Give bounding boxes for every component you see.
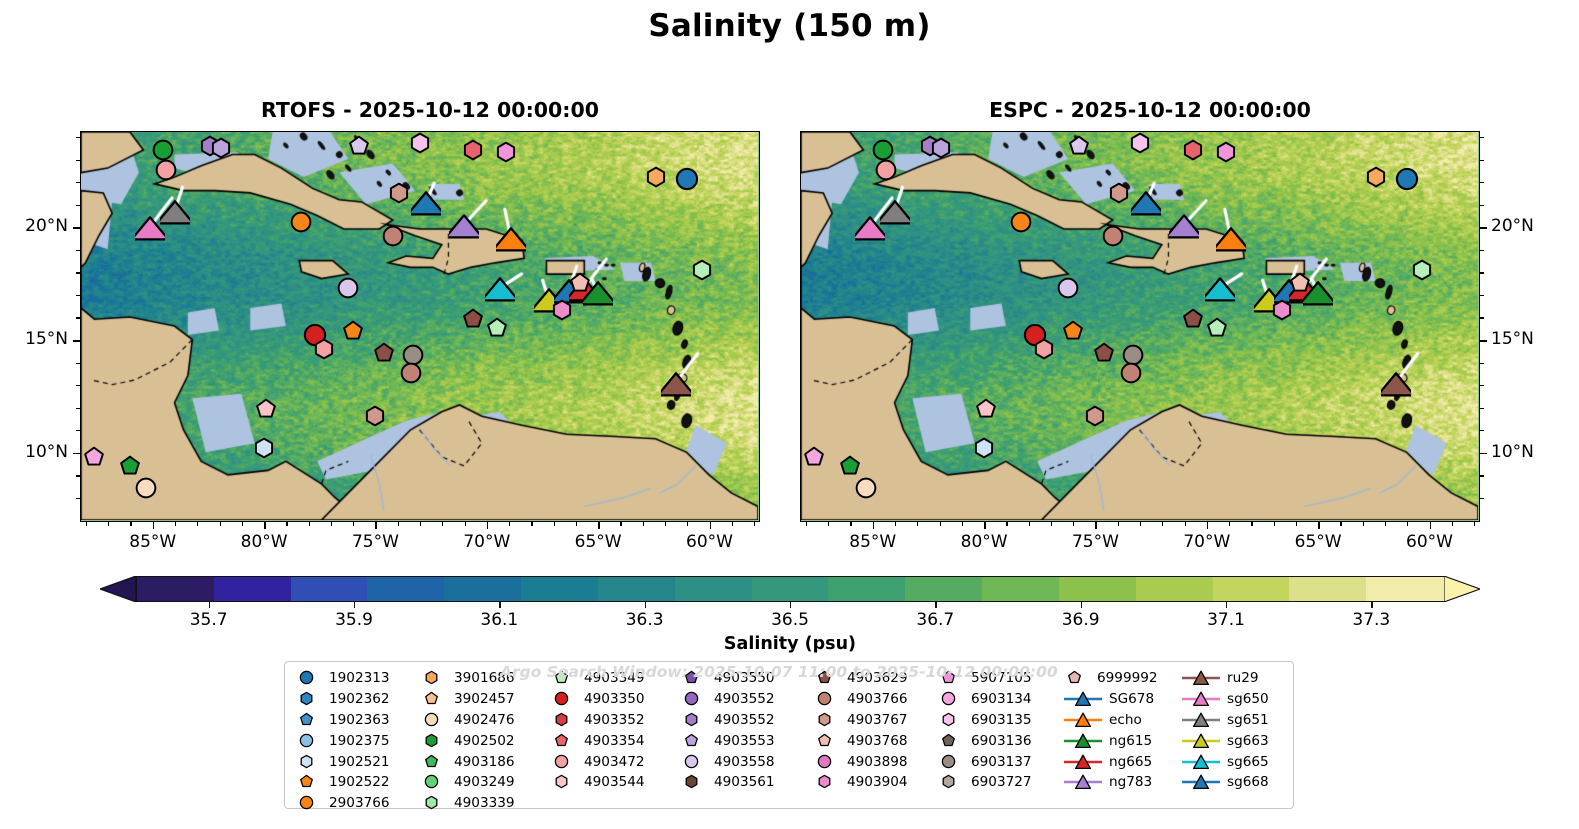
legend-item[interactable]: 1902375 bbox=[295, 730, 390, 751]
legend-label: sg663 bbox=[1227, 733, 1269, 749]
colorbar-tick bbox=[1226, 602, 1227, 608]
x-tick bbox=[984, 522, 986, 529]
float-marker-icon bbox=[813, 690, 835, 708]
float-marker-icon bbox=[295, 753, 317, 771]
x-tick bbox=[1318, 522, 1320, 529]
glider-marker-icon bbox=[1063, 732, 1103, 750]
legend-item[interactable]: 4903186 bbox=[420, 751, 515, 772]
colorbar-gradient bbox=[136, 576, 1444, 602]
argo-search-window-watermark: Argo Search Window: 2025-10-07 11:00 to … bbox=[500, 663, 1058, 681]
map-marker[interactable] bbox=[1216, 225, 1246, 255]
map-marker[interactable] bbox=[386, 180, 412, 206]
legend-item[interactable]: sg650 bbox=[1181, 689, 1269, 710]
colorbar-segment bbox=[1366, 577, 1443, 601]
colorbar-segment bbox=[1059, 577, 1136, 601]
legend-item[interactable]: 1902362 bbox=[295, 689, 390, 710]
map-marker[interactable] bbox=[1118, 360, 1144, 386]
y-minor-tick bbox=[1480, 137, 1484, 138]
map-marker[interactable] bbox=[673, 165, 701, 193]
legend-item[interactable]: 4903553 bbox=[680, 730, 775, 751]
float-marker-icon bbox=[680, 711, 702, 729]
observation-markers bbox=[81, 132, 758, 520]
legend-label: 1902522 bbox=[329, 774, 390, 790]
float-marker-icon bbox=[295, 732, 317, 750]
legend-label: 4903544 bbox=[584, 774, 645, 790]
x-minor-tick bbox=[754, 522, 755, 526]
map-marker[interactable] bbox=[1100, 223, 1126, 249]
legend-item[interactable]: echo bbox=[1063, 710, 1142, 731]
colorbar-segment bbox=[367, 577, 444, 601]
legend-item[interactable]: 3902457 bbox=[420, 689, 515, 710]
legend-item[interactable]: 4903472 bbox=[550, 751, 645, 772]
map-marker[interactable] bbox=[153, 157, 179, 183]
y-minor-tick bbox=[76, 430, 80, 431]
legend-label: 4903767 bbox=[847, 712, 908, 728]
legend-item[interactable]: 4903339 bbox=[420, 793, 515, 814]
y-tick bbox=[1480, 227, 1487, 229]
colorbar-tick-label: 35.7 bbox=[164, 610, 254, 630]
float-marker-icon bbox=[937, 690, 959, 708]
x-minor-tick bbox=[917, 522, 918, 526]
colorbar-segment bbox=[1213, 577, 1290, 601]
legend-item[interactable]: ng615 bbox=[1063, 730, 1152, 751]
x-tick bbox=[598, 522, 600, 529]
map-marker[interactable] bbox=[1031, 336, 1057, 362]
map-marker[interactable] bbox=[1082, 403, 1108, 429]
legend-label: 1902375 bbox=[329, 733, 390, 749]
y-minor-tick bbox=[76, 498, 80, 499]
map-marker[interactable] bbox=[398, 360, 424, 386]
legend-item[interactable]: 1902363 bbox=[295, 710, 390, 731]
legend-item[interactable]: 4903544 bbox=[550, 772, 645, 793]
x-minor-tick bbox=[828, 522, 829, 526]
map-marker[interactable] bbox=[1180, 306, 1206, 332]
colorbar-tick-label: 36.9 bbox=[1036, 610, 1126, 630]
legend-item[interactable]: 1902521 bbox=[295, 751, 390, 772]
colorbar-segment bbox=[214, 577, 291, 601]
legend-label: ru29 bbox=[1227, 670, 1259, 686]
x-minor-tick bbox=[1029, 522, 1030, 526]
float-marker-icon bbox=[937, 711, 959, 729]
glider-marker-icon bbox=[1181, 711, 1221, 729]
legend-item[interactable]: 2903766 bbox=[295, 793, 390, 814]
map-panel-rtofs[interactable] bbox=[80, 131, 760, 522]
legend-item[interactable]: SG678 bbox=[1063, 689, 1154, 710]
y-minor-tick bbox=[1480, 160, 1484, 161]
legend-label: 4903553 bbox=[714, 733, 775, 749]
y-minor-tick bbox=[76, 295, 80, 296]
panel-title-rtofs: RTOFS - 2025-10-12 00:00:00 bbox=[80, 98, 780, 122]
x-minor-tick bbox=[1229, 522, 1230, 526]
map-marker[interactable] bbox=[251, 435, 277, 461]
legend-item[interactable]: 4903558 bbox=[680, 751, 775, 772]
map-marker[interactable] bbox=[496, 225, 526, 255]
legend-label: 4902502 bbox=[454, 733, 515, 749]
map-marker[interactable] bbox=[1393, 165, 1421, 193]
legend-label: sg665 bbox=[1227, 754, 1269, 770]
float-marker-icon bbox=[295, 773, 317, 791]
map-marker[interactable] bbox=[460, 137, 486, 163]
float-marker-icon bbox=[420, 690, 442, 708]
map-marker[interactable] bbox=[335, 275, 361, 301]
map-marker[interactable] bbox=[485, 275, 515, 305]
legend-item[interactable]: 4902476 bbox=[420, 710, 515, 731]
colorbar-tick-label: 37.3 bbox=[1326, 610, 1416, 630]
map-marker[interactable] bbox=[1205, 275, 1235, 305]
legend-label: 4903558 bbox=[714, 754, 775, 770]
legend-item[interactable]: 6903135 bbox=[937, 710, 1032, 731]
float-marker-icon bbox=[295, 690, 317, 708]
y-minor-tick bbox=[76, 250, 80, 251]
map-marker[interactable] bbox=[1008, 209, 1034, 235]
legend-item[interactable]: 4903904 bbox=[813, 772, 908, 793]
legend-item[interactable]: 6903136 bbox=[937, 730, 1032, 751]
legend-item[interactable]: 4903350 bbox=[550, 689, 645, 710]
map-marker[interactable] bbox=[1169, 212, 1199, 242]
legend-label: 4903339 bbox=[454, 795, 515, 811]
y-minor-tick bbox=[1480, 385, 1484, 386]
map-marker[interactable] bbox=[81, 444, 107, 470]
float-marker-icon bbox=[937, 773, 959, 791]
legend-label: sg650 bbox=[1227, 691, 1269, 707]
float-marker-icon bbox=[937, 753, 959, 771]
y-tick bbox=[1480, 453, 1487, 455]
glider-marker-icon bbox=[1181, 690, 1221, 708]
x-minor-tick bbox=[220, 522, 221, 526]
x-minor-tick bbox=[175, 522, 176, 526]
legend-item[interactable]: 4903561 bbox=[680, 772, 775, 793]
x-minor-tick bbox=[1162, 522, 1163, 526]
figure-title: Salinity (150 m) bbox=[0, 8, 1579, 44]
legend-item[interactable]: 6903137 bbox=[937, 751, 1032, 772]
legend-label: 4903472 bbox=[584, 754, 645, 770]
map-marker[interactable] bbox=[1131, 189, 1161, 219]
x-tick-label: 85°W bbox=[833, 532, 913, 552]
x-minor-tick bbox=[309, 522, 310, 526]
legend-label: 4903354 bbox=[584, 733, 645, 749]
x-tick bbox=[1207, 522, 1209, 529]
x-minor-tick bbox=[130, 522, 131, 526]
colorbar-tick bbox=[935, 602, 936, 608]
legend[interactable]: 1902313190236219023631902375190252119025… bbox=[284, 661, 1294, 809]
map-marker[interactable] bbox=[1127, 131, 1153, 156]
float-marker-icon bbox=[550, 711, 572, 729]
legend-item[interactable]: 4903552 bbox=[680, 710, 775, 731]
map-marker[interactable] bbox=[493, 139, 519, 165]
x-minor-tick bbox=[1006, 522, 1007, 526]
y-tick-label: 10°N bbox=[0, 442, 68, 462]
map-marker[interactable] bbox=[853, 475, 879, 501]
x-minor-tick bbox=[1118, 522, 1119, 526]
float-marker-icon bbox=[420, 669, 442, 687]
legend-label: 4903186 bbox=[454, 754, 515, 770]
map-marker[interactable] bbox=[1204, 315, 1230, 341]
x-minor-tick bbox=[509, 522, 510, 526]
x-tick bbox=[264, 522, 266, 529]
x-minor-tick bbox=[962, 522, 963, 526]
x-tick-label: 70°W bbox=[1167, 532, 1247, 552]
map-marker[interactable] bbox=[340, 318, 366, 344]
map-marker[interactable] bbox=[411, 189, 441, 219]
x-minor-tick bbox=[331, 522, 332, 526]
x-tick-label: 75°W bbox=[1055, 532, 1135, 552]
y-minor-tick bbox=[76, 205, 80, 206]
legend-label: sg668 bbox=[1227, 774, 1269, 790]
colorbar-tick bbox=[1081, 602, 1082, 608]
y-tick-label: 10°N bbox=[1491, 442, 1577, 462]
x-minor-tick bbox=[687, 522, 688, 526]
map-marker[interactable] bbox=[1381, 370, 1411, 400]
x-minor-tick bbox=[1340, 522, 1341, 526]
y-tick-label: 15°N bbox=[1491, 329, 1577, 349]
x-minor-tick bbox=[1452, 522, 1453, 526]
map-marker[interactable] bbox=[1091, 340, 1117, 366]
x-tick-label: 60°W bbox=[670, 532, 750, 552]
colorbar-segment bbox=[828, 577, 905, 601]
legend-label: 4903766 bbox=[847, 691, 908, 707]
map-marker[interactable] bbox=[1269, 297, 1295, 323]
float-marker-icon bbox=[550, 690, 572, 708]
y-minor-tick bbox=[1480, 295, 1484, 296]
x-minor-tick bbox=[620, 522, 621, 526]
legend-item[interactable]: 4903352 bbox=[550, 710, 645, 731]
legend-label: 6903136 bbox=[971, 733, 1032, 749]
colorbar-segment bbox=[675, 577, 752, 601]
legend-item[interactable]: 4903766 bbox=[813, 689, 908, 710]
glider-marker-icon bbox=[1181, 753, 1221, 771]
colorbar-segment bbox=[444, 577, 521, 601]
map-marker[interactable] bbox=[549, 297, 575, 323]
x-minor-tick bbox=[86, 522, 87, 526]
colorbar-segment bbox=[905, 577, 982, 601]
legend-label: 6903137 bbox=[971, 754, 1032, 770]
map-marker[interactable] bbox=[346, 133, 372, 159]
x-minor-tick bbox=[665, 522, 666, 526]
map-marker[interactable] bbox=[208, 135, 234, 161]
legend-label: 1902521 bbox=[329, 754, 390, 770]
map-marker[interactable] bbox=[1409, 257, 1435, 283]
float-marker-icon bbox=[420, 753, 442, 771]
float-marker-icon bbox=[680, 773, 702, 791]
colorbar-segment bbox=[1136, 577, 1213, 601]
map-marker[interactable] bbox=[484, 315, 510, 341]
map-marker[interactable] bbox=[311, 336, 337, 362]
map-marker[interactable] bbox=[135, 214, 165, 244]
legend-item[interactable]: 4902502 bbox=[420, 730, 515, 751]
colorbar-title: Salinity (psu) bbox=[100, 634, 1480, 654]
legend-label: 4903898 bbox=[847, 754, 908, 770]
legend-item[interactable]: 4903249 bbox=[420, 772, 515, 793]
map-marker[interactable] bbox=[133, 475, 159, 501]
float-marker-icon bbox=[420, 794, 442, 812]
map-marker[interactable] bbox=[689, 257, 715, 283]
y-minor-tick bbox=[1480, 430, 1484, 431]
x-minor-tick bbox=[850, 522, 851, 526]
x-tick-label: 60°W bbox=[1390, 532, 1470, 552]
map-marker[interactable] bbox=[1066, 133, 1092, 159]
colorbar-tick-label: 36.7 bbox=[890, 610, 980, 630]
colorbar-tick bbox=[354, 602, 355, 608]
colorbar-tick-label: 36.1 bbox=[454, 610, 544, 630]
legend-item[interactable]: 6999992 bbox=[1063, 668, 1158, 689]
x-tick-label: 75°W bbox=[335, 532, 415, 552]
colorbar-tick bbox=[499, 602, 500, 608]
map-marker[interactable] bbox=[855, 214, 885, 244]
panel-title-espc: ESPC - 2025-10-12 00:00:00 bbox=[800, 98, 1500, 122]
legend-item[interactable]: 4903768 bbox=[813, 730, 908, 751]
map-marker[interactable] bbox=[449, 212, 479, 242]
legend-label: 4903768 bbox=[847, 733, 908, 749]
legend-label: 4903249 bbox=[454, 774, 515, 790]
legend-item[interactable]: ng783 bbox=[1063, 772, 1152, 793]
x-minor-tick bbox=[940, 522, 941, 526]
float-marker-icon bbox=[295, 669, 317, 687]
float-marker-icon bbox=[295, 794, 317, 812]
legend-item[interactable]: 1902313 bbox=[295, 668, 390, 689]
legend-label: echo bbox=[1109, 712, 1142, 728]
x-minor-tick bbox=[806, 522, 807, 526]
colorbar-segment bbox=[1289, 577, 1366, 601]
map-marker[interactable] bbox=[643, 164, 669, 190]
float-marker-icon bbox=[550, 773, 572, 791]
legend-item[interactable]: ru29 bbox=[1181, 668, 1259, 689]
x-tick bbox=[153, 522, 155, 529]
x-minor-tick bbox=[576, 522, 577, 526]
y-minor-tick bbox=[1480, 205, 1484, 206]
y-tick-label: 15°N bbox=[0, 329, 68, 349]
y-minor-tick bbox=[76, 475, 80, 476]
map-panel-espc[interactable] bbox=[800, 131, 1480, 522]
x-minor-tick bbox=[643, 522, 644, 526]
legend-label: ng783 bbox=[1109, 774, 1152, 790]
x-minor-tick bbox=[1474, 522, 1475, 526]
float-marker-icon bbox=[420, 732, 442, 750]
legend-label: ng615 bbox=[1109, 733, 1152, 749]
y-minor-tick bbox=[76, 137, 80, 138]
legend-label: sg651 bbox=[1227, 712, 1269, 728]
legend-item[interactable]: sg668 bbox=[1181, 772, 1269, 793]
legend-item[interactable]: sg663 bbox=[1181, 730, 1269, 751]
x-minor-tick bbox=[1274, 522, 1275, 526]
legend-label: ng665 bbox=[1109, 754, 1152, 770]
map-marker[interactable] bbox=[928, 135, 954, 161]
map-marker[interactable] bbox=[460, 306, 486, 332]
colorbar-segment bbox=[598, 577, 675, 601]
legend-label: 4902476 bbox=[454, 712, 515, 728]
map-marker[interactable] bbox=[1060, 318, 1086, 344]
x-tick-label: 65°W bbox=[1278, 532, 1358, 552]
legend-item[interactable]: 4903767 bbox=[813, 710, 908, 731]
map-marker[interactable] bbox=[873, 157, 899, 183]
glider-marker-icon bbox=[1181, 669, 1221, 687]
x-tick bbox=[487, 522, 489, 529]
y-minor-tick bbox=[76, 408, 80, 409]
float-marker-icon bbox=[680, 690, 702, 708]
x-minor-tick bbox=[1363, 522, 1364, 526]
colorbar-under-cap bbox=[100, 576, 136, 602]
map-marker[interactable] bbox=[801, 444, 827, 470]
legend-label: 6903727 bbox=[971, 774, 1032, 790]
colorbar-tick bbox=[1371, 602, 1372, 608]
x-tick bbox=[1095, 522, 1097, 529]
colorbar-tick-label: 36.5 bbox=[745, 610, 835, 630]
legend-label: 6999992 bbox=[1097, 670, 1158, 686]
colorbar-segment bbox=[752, 577, 829, 601]
map-marker[interactable] bbox=[371, 340, 397, 366]
x-minor-tick bbox=[895, 522, 896, 526]
legend-label: 1902363 bbox=[329, 712, 390, 728]
x-minor-tick bbox=[286, 522, 287, 526]
y-tick bbox=[73, 453, 80, 455]
legend-item[interactable]: 6903134 bbox=[937, 689, 1032, 710]
map-marker[interactable] bbox=[1180, 137, 1206, 163]
map-marker[interactable] bbox=[1363, 164, 1389, 190]
legend-label: 6903135 bbox=[971, 712, 1032, 728]
legend-item[interactable]: ng665 bbox=[1063, 751, 1152, 772]
float-marker-icon bbox=[1063, 669, 1085, 687]
map-marker[interactable] bbox=[1106, 180, 1132, 206]
legend-item[interactable]: sg651 bbox=[1181, 710, 1269, 731]
x-tick-label: 70°W bbox=[447, 532, 527, 552]
x-minor-tick bbox=[442, 522, 443, 526]
float-marker-icon bbox=[550, 753, 572, 771]
legend-label: 4903350 bbox=[584, 691, 645, 707]
map-marker[interactable] bbox=[971, 435, 997, 461]
map-marker[interactable] bbox=[1287, 270, 1313, 296]
x-minor-tick bbox=[353, 522, 354, 526]
x-minor-tick bbox=[554, 522, 555, 526]
legend-item[interactable]: 4903898 bbox=[813, 751, 908, 772]
y-minor-tick bbox=[76, 272, 80, 273]
legend-label: 4903904 bbox=[847, 774, 908, 790]
float-marker-icon bbox=[420, 711, 442, 729]
map-marker[interactable] bbox=[567, 270, 593, 296]
legend-item[interactable]: sg665 bbox=[1181, 751, 1269, 772]
float-marker-icon bbox=[813, 773, 835, 791]
legend-label: 4903552 bbox=[714, 691, 775, 707]
x-tick-label: 85°W bbox=[113, 532, 193, 552]
float-marker-icon bbox=[680, 753, 702, 771]
colorbar-over-cap bbox=[1444, 576, 1480, 602]
map-marker[interactable] bbox=[973, 396, 999, 422]
x-tick bbox=[710, 522, 712, 529]
map-marker[interactable] bbox=[407, 131, 433, 156]
legend-item[interactable]: 4903552 bbox=[680, 689, 775, 710]
legend-item[interactable]: 1902522 bbox=[295, 772, 390, 793]
map-marker[interactable] bbox=[1213, 139, 1239, 165]
map-marker[interactable] bbox=[253, 396, 279, 422]
map-marker[interactable] bbox=[380, 223, 406, 249]
y-minor-tick bbox=[1480, 317, 1484, 318]
y-tick bbox=[1480, 340, 1487, 342]
x-minor-tick bbox=[242, 522, 243, 526]
map-marker[interactable] bbox=[288, 209, 314, 235]
map-marker[interactable] bbox=[1055, 275, 1081, 301]
y-minor-tick bbox=[1480, 408, 1484, 409]
legend-item[interactable]: 6903727 bbox=[937, 772, 1032, 793]
float-marker-icon bbox=[680, 732, 702, 750]
glider-marker-icon bbox=[1181, 732, 1221, 750]
map-marker[interactable] bbox=[362, 403, 388, 429]
legend-item[interactable]: 4903354 bbox=[550, 730, 645, 751]
legend-label: 4903561 bbox=[714, 774, 775, 790]
colorbar-tick bbox=[209, 602, 210, 608]
y-minor-tick bbox=[76, 363, 80, 364]
x-minor-tick bbox=[1407, 522, 1408, 526]
map-marker[interactable] bbox=[661, 370, 691, 400]
float-marker-icon bbox=[295, 711, 317, 729]
glider-marker-icon bbox=[1063, 711, 1103, 729]
